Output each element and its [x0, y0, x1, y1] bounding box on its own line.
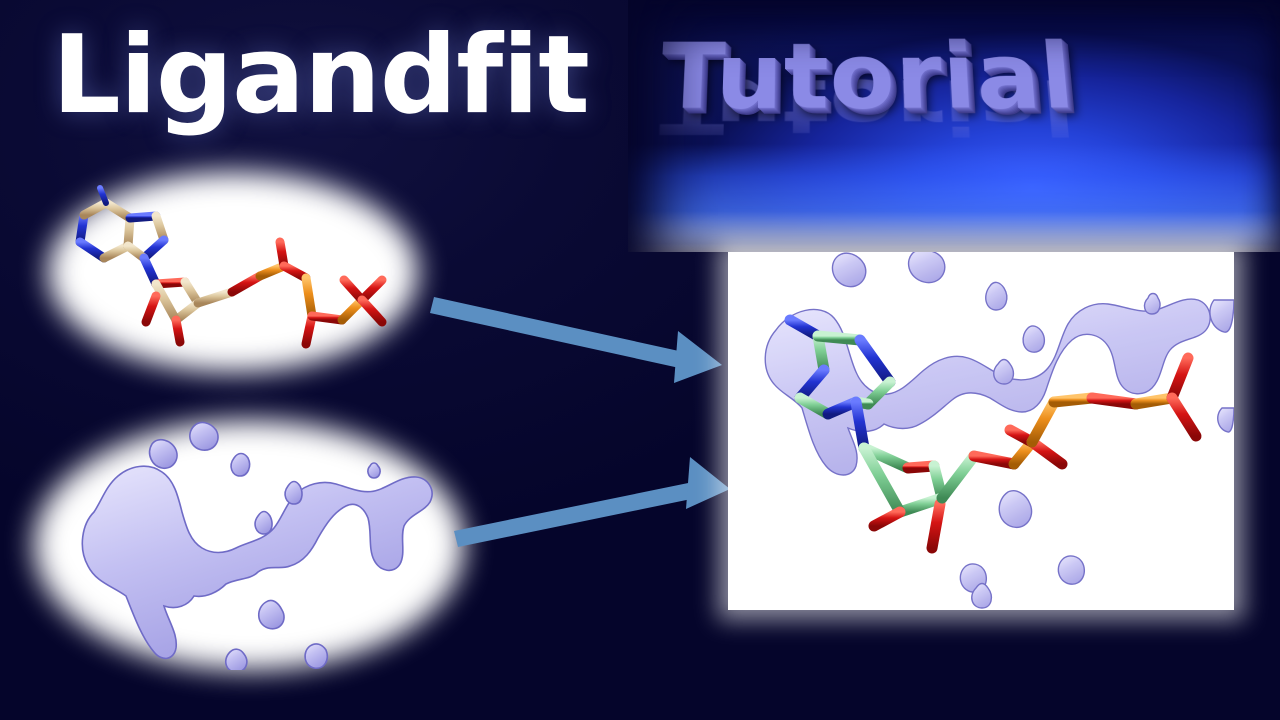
tutorial-text: Tutorial — [658, 25, 1079, 130]
slide-canvas: Tutorial Tutorial Ligandfit — [0, 0, 1280, 720]
ligand-molecule-render — [48, 172, 418, 372]
page-title: Ligandfit — [52, 16, 589, 137]
density-isosurface-render — [34, 420, 464, 670]
arrow-density-to-result — [452, 455, 732, 555]
tutorial-banner: Tutorial Tutorial — [628, 0, 1280, 252]
figure-fitted-result — [728, 252, 1234, 610]
tutorial-reflection-floor — [628, 144, 1280, 252]
arrow-ligand-to-result — [430, 285, 730, 395]
figure-ligand-model — [48, 172, 418, 372]
figure-density-map — [34, 420, 464, 670]
